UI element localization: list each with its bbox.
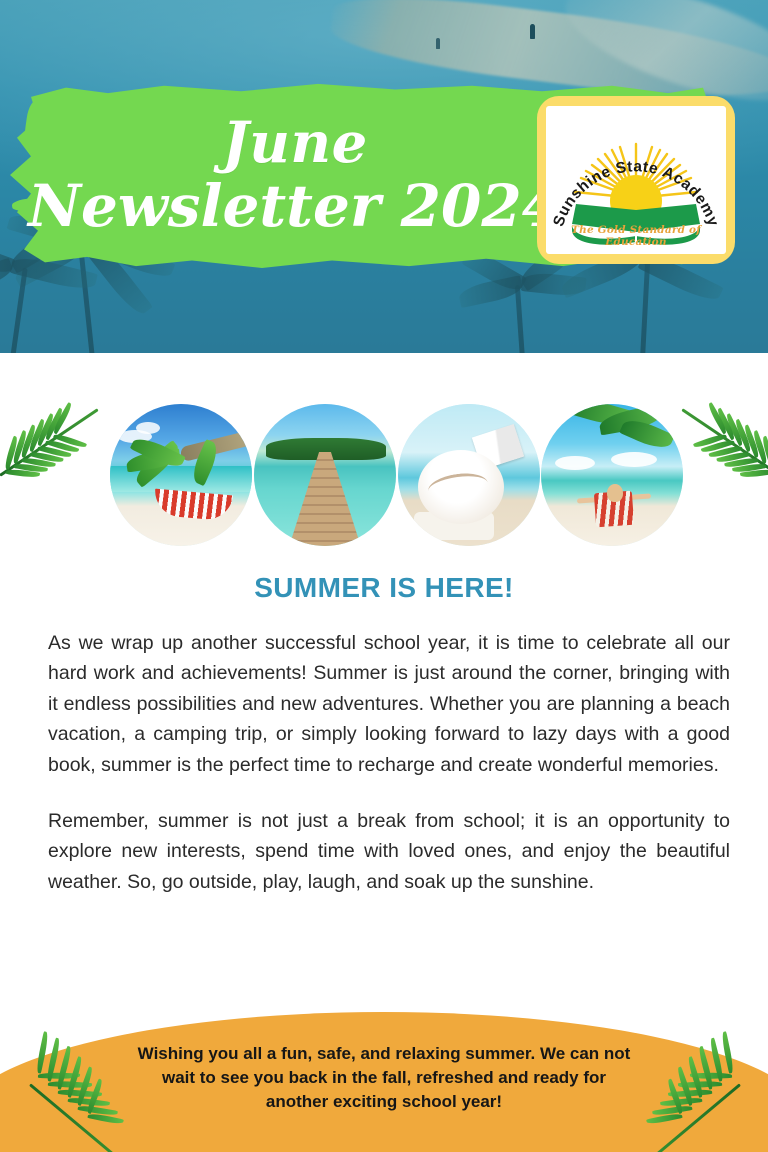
pier-island-photo [254, 404, 396, 546]
newsletter-page: June Newsletter 2024 [0, 0, 768, 1152]
beach-chair-photo [541, 404, 683, 546]
sunhat-book-photo [398, 404, 540, 546]
school-logo: Sunshine State Academy The Gold Standard… [537, 96, 735, 264]
body-paragraph-2: Remember, summer is not just a break fro… [48, 806, 730, 897]
newsletter-title: June Newsletter 2024 [60, 88, 530, 264]
gallery-photo-4 [541, 404, 683, 546]
gallery-photo-2 [254, 404, 396, 546]
palm-frond-icon-right [672, 414, 768, 534]
footer-palm-frond-icon-left [30, 1008, 170, 1152]
photo-gallery-row [0, 404, 768, 546]
footer-message: Wishing you all a fun, safe, and relaxin… [130, 1042, 638, 1114]
title-month: June [222, 115, 368, 171]
palm-hammock-photo [110, 404, 252, 546]
logo-tagline: The Gold Standard of Education [546, 224, 726, 248]
body-paragraph-1: As we wrap up another successful school … [48, 628, 730, 780]
footer-palm-frond-icon-right [600, 1008, 740, 1152]
beach-figure-icon [436, 38, 440, 49]
page-title: SUMMER IS HERE! [0, 572, 768, 604]
newsletter-body: As we wrap up another successful school … [48, 628, 730, 897]
beach-figure-icon [530, 24, 535, 39]
newsletter-header: June Newsletter 2024 [0, 0, 768, 353]
palm-frond-icon-left [0, 414, 108, 534]
gallery-photo-1 [110, 404, 252, 546]
title-main: Newsletter 2024 [28, 175, 562, 238]
gallery-photo-3 [398, 404, 540, 546]
